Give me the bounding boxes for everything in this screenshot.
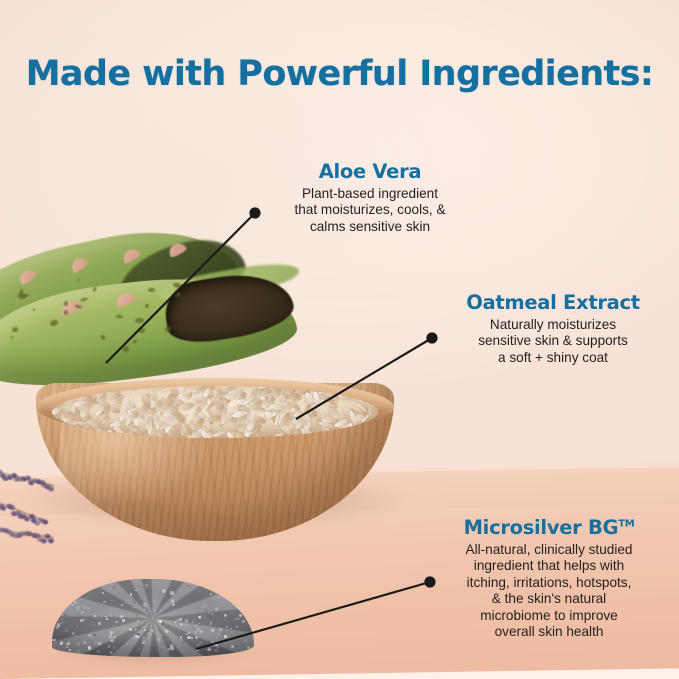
microsilver-speck — [136, 614, 139, 617]
microsilver-speck — [139, 627, 141, 629]
microsilver-speck — [210, 622, 212, 624]
microsilver-speck — [182, 641, 184, 643]
microsilver-speck — [57, 619, 59, 621]
microsilver-speck — [150, 633, 152, 635]
microsilver-speck — [90, 625, 91, 626]
microsilver-speck — [133, 601, 136, 604]
microsilver-speck — [115, 621, 117, 623]
microsilver-speck — [69, 649, 71, 651]
microsilver-speck — [239, 614, 242, 617]
callout-body-line: that moisturizes, cools, & — [256, 202, 484, 218]
microsilver-speck — [71, 604, 74, 607]
callout-body-line: & the skin's natural — [418, 591, 679, 607]
microsilver-speck — [111, 600, 112, 601]
callout-body-line: sensitive skin & supports — [430, 333, 676, 349]
microsilver-speck — [219, 622, 221, 624]
microsilver-speck — [97, 650, 100, 653]
microsilver-speck — [224, 635, 227, 638]
page-title: Made with Powerful Ingredients: — [0, 54, 679, 94]
aloe-leaf-speck — [116, 314, 123, 318]
oat-flake — [190, 431, 195, 438]
microsilver-speck — [127, 643, 128, 644]
microsilver-speck — [170, 646, 173, 649]
microsilver-speck — [148, 615, 150, 617]
microsilver-speck — [112, 586, 116, 590]
microsilver-speck — [98, 622, 101, 625]
microsilver-speck — [185, 619, 188, 622]
microsilver-speck — [83, 641, 86, 644]
microsilver-speck — [106, 618, 108, 620]
microsilver-speck — [56, 626, 59, 629]
microsilver-speck — [242, 620, 245, 623]
callout-body-line: All-natural, clinically studied — [418, 542, 679, 558]
microsilver-speck — [135, 619, 136, 620]
microsilver-speck — [226, 626, 228, 628]
microsilver-speck — [186, 648, 187, 649]
microsilver-speck — [128, 645, 130, 647]
microsilver-speck — [83, 599, 85, 601]
microsilver-speck — [144, 629, 146, 631]
microsilver-speck — [224, 596, 226, 598]
microsilver-speck — [110, 631, 113, 634]
microsilver-speck — [100, 604, 101, 605]
microsilver-speck — [88, 646, 92, 650]
microsilver-speck — [215, 628, 217, 630]
callout-body-line: overall skin health — [418, 624, 679, 640]
microsilver-speck — [228, 592, 231, 595]
microsilver-speck — [98, 642, 101, 645]
microsilver-speck — [215, 614, 217, 616]
aloe-leaf-speck — [64, 301, 68, 306]
microsilver-speck — [240, 597, 242, 599]
microsilver-speck — [132, 620, 133, 621]
callout-title-oatmeal-extract: Oatmeal Extract — [430, 291, 676, 314]
callout-body-line: a soft + shiny coat — [430, 350, 676, 366]
microsilver-speck — [216, 637, 217, 638]
microsilver-speck — [246, 589, 248, 591]
microsilver-speck — [101, 634, 103, 636]
microsilver-speck — [200, 630, 202, 632]
microsilver-speck — [224, 614, 227, 617]
callout-body-microsilver-bg: All-natural, clinically studiedingredien… — [418, 542, 679, 640]
microsilver-speck — [194, 609, 197, 612]
trademark-symbol: TM — [618, 519, 634, 530]
microsilver-speck — [143, 637, 145, 639]
microsilver-speck — [161, 623, 164, 626]
aloe-leaf-speck — [122, 345, 129, 352]
callout-title-microsilver-bg: Microsilver BGTM — [418, 516, 679, 539]
microsilver-speck — [217, 596, 220, 599]
microsilver-speck — [53, 639, 55, 641]
microsilver-speck — [60, 641, 62, 643]
microsilver-speck — [236, 626, 238, 628]
microsilver-speck — [189, 649, 191, 651]
callout-aloe-vera: Aloe Vera Plant-based ingredientthat moi… — [256, 160, 484, 235]
microsilver-speck — [83, 618, 85, 620]
microsilver-speck — [197, 644, 199, 646]
microsilver-speck — [160, 642, 163, 645]
microsilver-speck — [98, 606, 100, 608]
microsilver-speck — [98, 647, 99, 648]
microsilver-speck — [176, 619, 179, 622]
microsilver-speck — [199, 641, 202, 644]
microsilver-powder — [52, 579, 254, 657]
microsilver-speck — [179, 618, 182, 621]
oat-flake — [167, 430, 174, 438]
microsilver-speck — [210, 593, 212, 595]
callout-title-text: Microsilver BG — [464, 516, 619, 539]
microsilver-speck — [153, 600, 156, 603]
microsilver-speck — [217, 633, 220, 636]
callout-body-line: itching, irritations, hotspots, — [418, 575, 679, 591]
microsilver-speck — [162, 635, 163, 636]
microsilver-speck — [209, 617, 212, 620]
callout-body-aloe-vera: Plant-based ingredientthat moisturizes, … — [256, 186, 484, 235]
callout-title-aloe-vera: Aloe Vera — [256, 160, 484, 183]
microsilver-speck — [211, 629, 214, 632]
callout-body-line: calms sensitive skin — [256, 219, 484, 235]
callout-microsilver-bg: Microsilver BGTM All-natural, clinically… — [418, 516, 679, 640]
microsilver-speck — [201, 606, 204, 609]
microsilver-speck — [142, 642, 144, 644]
microsilver-speck — [77, 650, 80, 653]
microsilver-speck — [143, 603, 147, 607]
oat-flake — [262, 399, 268, 408]
aloe-leaf-speck — [135, 318, 144, 323]
microsilver-speck — [219, 628, 222, 631]
microsilver-speck — [213, 591, 216, 594]
microsilver-speck — [67, 642, 70, 645]
microsilver-speck — [192, 621, 194, 623]
microsilver-speck — [87, 607, 89, 609]
microsilver-speck — [105, 616, 106, 617]
microsilver-speck — [193, 627, 196, 630]
microsilver-speck — [217, 646, 218, 647]
callout-oatmeal-extract: Oatmeal Extract Naturally moisturizessen… — [430, 291, 676, 366]
oat-flake — [307, 410, 317, 417]
microsilver-speck — [125, 648, 127, 650]
callout-body-line: ingredient that helps with — [418, 558, 679, 574]
microsilver-speck — [171, 599, 174, 602]
callout-title-text: Aloe Vera — [319, 160, 422, 183]
microsilver-speck — [180, 623, 183, 626]
ingredient-infographic: Made with Powerful Ingredients: Aloe Ver… — [0, 0, 679, 679]
oat-flake — [294, 430, 302, 435]
microsilver-speck — [108, 645, 110, 647]
microsilver-speck — [148, 630, 150, 632]
microsilver-speck — [159, 620, 162, 623]
microsilver-speck — [204, 604, 207, 607]
microsilver-speck — [94, 615, 96, 617]
microsilver-speck — [90, 635, 93, 638]
callout-body-line: Naturally moisturizes — [430, 317, 676, 333]
callout-title-text: Oatmeal Extract — [466, 291, 640, 314]
aloe-leaf-speck — [138, 328, 144, 333]
callout-body-oatmeal-extract: Naturally moisturizessensitive skin & su… — [430, 317, 676, 366]
microsilver-speck — [159, 634, 161, 636]
microsilver-speck — [205, 609, 208, 612]
microsilver-speck — [162, 589, 166, 593]
callout-body-line: microbiome to improve — [418, 608, 679, 624]
microsilver-speck — [121, 604, 123, 606]
microsilver-speck — [110, 651, 113, 654]
microsilver-speck — [223, 589, 226, 592]
microsilver-speck — [188, 632, 190, 634]
microsilver-speck — [244, 639, 247, 642]
microsilver-speck — [211, 613, 214, 616]
callout-body-line: Plant-based ingredient — [256, 186, 484, 202]
microsilver-speck — [66, 647, 67, 648]
oat-flakes — [52, 386, 378, 438]
microsilver-speck — [224, 642, 225, 643]
microsilver-speck — [214, 650, 216, 652]
aloe-leaf-speck — [165, 326, 171, 332]
microsilver-speck — [130, 593, 133, 596]
microsilver-speck — [170, 591, 173, 594]
microsilver-speck — [227, 600, 229, 602]
